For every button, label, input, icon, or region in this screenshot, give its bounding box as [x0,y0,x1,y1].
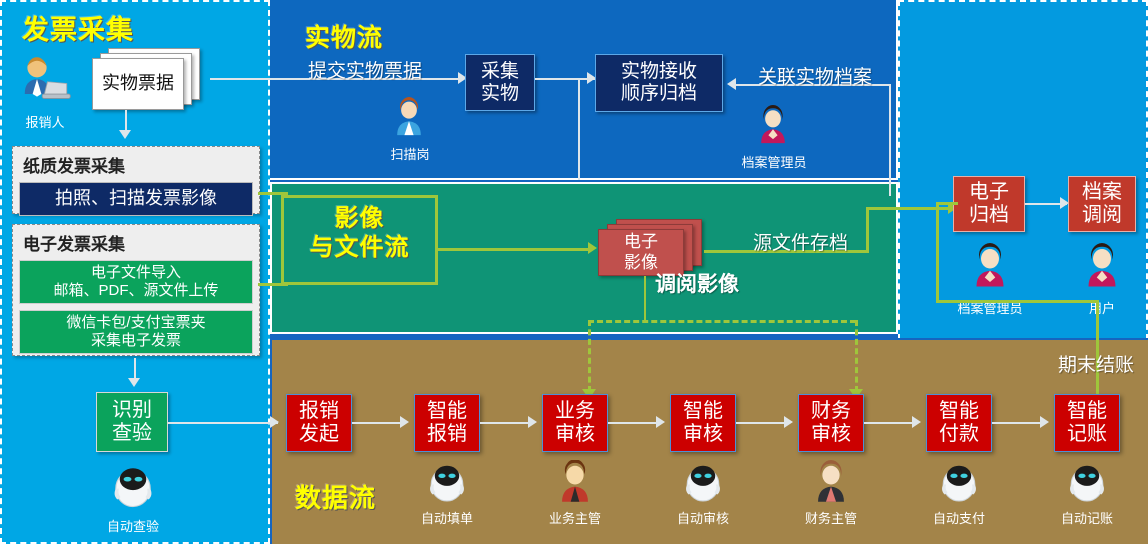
physical-documents-label: 实物票据 [92,58,184,110]
verify-line2: 查验 [112,422,152,445]
arrowhead-stack-to-paper-card [119,130,131,139]
edge-label-source-archive: 源文件存档 [753,228,848,255]
connector-step-5-to-6 [864,422,914,424]
arrowhead-step-6-to-7 [1040,416,1049,428]
step-4-line1: 智能 [683,400,723,423]
data-flow-actor-label-2: 自动填单 [402,508,492,527]
step-6-line1: 智能 [939,400,979,423]
card-paper-invoice-item[interactable]: 拍照、扫描发票影像 [19,182,253,216]
female-manager-icon [808,460,854,506]
step-3-line2: 审核 [555,423,595,446]
arrowhead-step-5-to-6 [912,416,921,428]
arrowhead-step-1-to-2 [400,416,409,428]
user-avatar-icon [1078,242,1126,292]
male-manager-icon [552,460,598,506]
box-recognize-verify[interactable]: 识别 查验 [96,392,168,452]
panel-title-physical-flow: 实物流 [305,18,383,54]
box-electronic-archiving[interactable]: 电子 归档 [953,176,1025,232]
wallet-line2: 采集电子发票 [91,332,181,350]
collect-physical-line2: 实物 [481,83,519,105]
image-title-line2: 与文件流 [292,233,427,262]
connector-step-4-to-5 [736,422,786,424]
connector-retrieve-branch-right [855,320,858,392]
data-flow-actor-4 [680,460,726,506]
data-flow-step-5[interactable]: 财务 审核 [798,394,864,452]
connector-stack-to-paper-card [125,110,127,132]
step-2-line2: 报销 [427,423,467,446]
edge-label-retrieve-image: 调阅影像 [655,268,739,298]
connector-step-6-to-7 [992,422,1042,424]
arrowhead-step-3-to-4 [656,416,665,428]
scan-staff-label: 扫描岗 [372,144,448,163]
efile-archive-line1: 电子 [969,181,1009,204]
receive-line2: 顺序归档 [621,83,697,105]
archive-retrieve-line2: 调阅 [1082,204,1122,227]
collect-physical-line1: 采集 [481,61,519,83]
step-7-line1: 智能 [1067,400,1107,423]
step-4-line2: 审核 [683,423,723,446]
connector-retrieve-stem [644,276,646,322]
arrowhead-step-4-to-5 [784,416,793,428]
scan-staff-avatar-icon [388,96,430,140]
step-1-line1: 报销 [299,400,339,423]
step-7-line2: 记账 [1067,423,1107,446]
reporter-avatar-label: 报销人 [10,112,80,131]
panel-title-image-flow: 影像 与文件流 [292,204,427,262]
card-electronic-item-wallet[interactable]: 微信卡包/支付宝票夹 采集电子发票 [19,310,253,354]
verify-line1: 识别 [112,399,152,422]
connector-efile-to-image [258,283,288,286]
data-flow-step-6[interactable]: 智能 付款 [926,394,992,452]
arrowhead-ecard-to-verify [128,378,140,387]
data-flow-actor-3 [552,460,598,506]
step-3-line1: 业务 [555,400,595,423]
connector-period-close-h [936,300,1099,303]
data-flow-actor-label-6: 自动支付 [914,508,1004,527]
arrowhead-image-to-eimage [588,242,597,254]
archivist-label-physical: 档案管理员 [733,152,815,171]
edge-label-link-physical-archive: 关联实物档案 [758,62,872,89]
connector-paper-to-image [258,192,288,195]
connector-period-close-v3 [936,202,939,302]
connector-source-archive-v [866,207,869,253]
archive-retrieve-line1: 档案 [1082,181,1122,204]
arrowhead-verify-to-dataflow [270,416,279,428]
connector-verify-to-dataflow [168,422,278,424]
step-5-line1: 财务 [811,400,851,423]
reporter-avatar-icon [16,52,72,108]
connector-retrieve-bus [588,320,856,323]
step-1-line2: 发起 [299,423,339,446]
data-flow-actor-label-4: 自动审核 [658,508,748,527]
data-flow-actor-label-3: 业务主管 [530,508,620,527]
connector-step-2-to-3 [480,422,530,424]
data-flow-step-3[interactable]: 业务 审核 [542,394,608,452]
card-electronic-invoice-header: 电子发票采集 [13,225,259,258]
receive-line1: 实物接收 [621,61,697,83]
data-flow-actor-label-5: 财务主管 [786,508,876,527]
card-paper-invoice-header: 纸质发票采集 [13,147,259,180]
auto-verify-robot-icon [108,462,158,512]
data-flow-actor-6 [936,460,982,506]
connector-retrieve-branch-left [588,320,591,392]
panel-title-invoice-collection: 发票采集 [22,8,134,47]
data-flow-actor-5 [808,460,854,506]
connector-link-physical-archive-v [889,84,891,196]
arrowhead-step-2-to-3 [528,416,537,428]
import-line1: 电子文件导入 [91,264,181,282]
connector-period-close-v2 [1096,300,1099,340]
box-archive-retrieval[interactable]: 档案 调阅 [1068,176,1136,232]
arrowhead-link-physical-archive [727,78,736,90]
data-flow-step-2[interactable]: 智能 报销 [414,394,480,452]
step-5-line2: 审核 [811,423,851,446]
card-electronic-invoice-collection[interactable]: 电子发票采集 电子文件导入 邮箱、PDF、源文件上传 微信卡包/支付宝票夹 采集… [12,224,260,356]
connector-step-3-to-4 [608,422,658,424]
image-title-line1: 影像 [292,204,427,233]
archivist-avatar-icon-physical [752,104,794,148]
data-flow-step-4[interactable]: 智能 审核 [670,394,736,452]
robot-icon [424,460,470,506]
efile-archive-line2: 归档 [969,204,1009,227]
edge-label-submit-physical: 提交实物票据 [308,56,422,83]
step-6-line2: 付款 [939,423,979,446]
card-paper-invoice-collection[interactable]: 纸质发票采集 拍照、扫描发票影像 [12,146,260,214]
connector-ecard-to-verify [134,358,136,380]
connector-period-close-into-archive [936,202,958,205]
panel-title-data-flow: 数据流 [295,478,376,515]
diagram-canvas: 发票采集 实物流 数据流 影像 与文件流 报销人 实物票据 纸质发票采集 拍照、… [0,0,1148,544]
box-physical-receive-archive[interactable]: 实物接收 顺序归档 [595,54,723,112]
eimage-line1: 电子 [624,232,658,252]
robot-icon [1064,460,1110,506]
card-electronic-item-import[interactable]: 电子文件导入 邮箱、PDF、源文件上传 [19,260,253,304]
connector-source-archive-h2 [866,207,952,210]
connector-physical-down [578,78,580,180]
data-flow-step-1[interactable]: 报销 发起 [286,394,352,452]
data-flow-actor-2 [424,460,470,506]
data-flow-actor-label-7: 自动记账 [1042,508,1132,527]
auto-verify-label: 自动查验 [88,516,178,535]
connector-collect-to-receive [535,78,595,80]
wallet-line1: 微信卡包/支付宝票夹 [66,314,205,332]
connector-image-title-to-eimage [437,248,592,251]
box-collect-physical[interactable]: 采集 实物 [465,54,535,111]
step-2-line1: 智能 [427,400,467,423]
data-flow-actor-7 [1064,460,1110,506]
connector-step-1-to-2 [352,422,402,424]
robot-icon [936,460,982,506]
data-flow-step-7[interactable]: 智能 记账 [1054,394,1120,452]
eimage-line2: 影像 [624,253,658,273]
physical-documents-text: 实物票据 [102,73,174,95]
robot-icon [680,460,726,506]
archivist-avatar-icon [966,242,1014,292]
import-line2: 邮箱、PDF、源文件上传 [53,282,218,300]
edge-label-period-close: 期末结账 [1058,350,1134,377]
physical-documents-stack: 实物票据 [92,48,212,110]
